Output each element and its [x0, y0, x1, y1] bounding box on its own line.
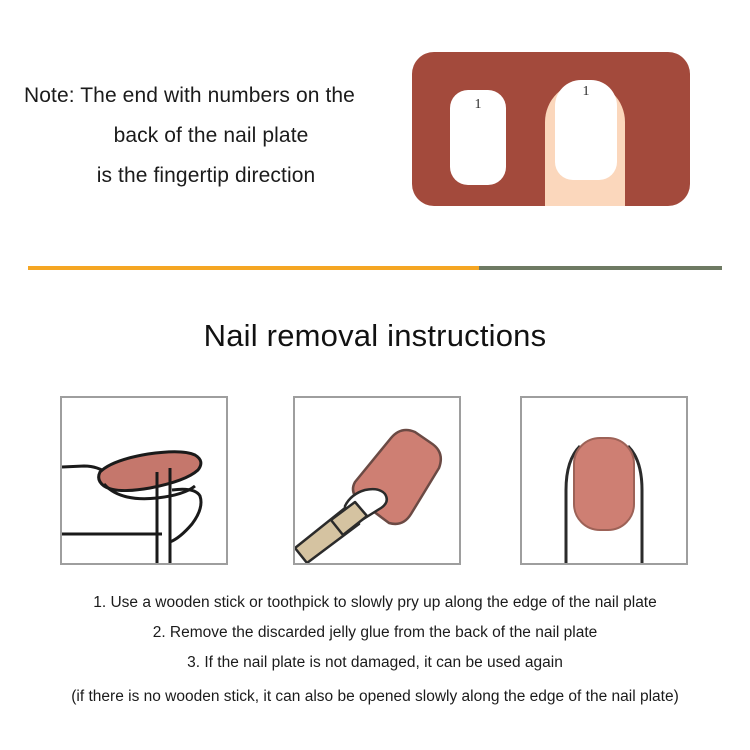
divider-segment-green — [479, 266, 722, 270]
page-title: Nail removal instructions — [0, 318, 750, 354]
note-section: Note: The end with numbers on the back o… — [0, 0, 750, 250]
note-line-1: Note: The end with numbers on the — [18, 76, 390, 116]
instruction-footnote: (if there is no wooden stick, it can als… — [0, 678, 750, 712]
nail-plate-on-finger-icon — [522, 398, 686, 563]
stick-under-nail-plate-icon — [295, 398, 459, 563]
instruction-list: 1. Use a wooden stick or toothpick to sl… — [0, 588, 750, 712]
section-divider — [28, 266, 722, 270]
instruction-step-3: 3. If the nail plate is not damaged, it … — [0, 648, 750, 678]
illustration-step-1 — [60, 396, 228, 565]
instruction-step-2: 2. Remove the discarded jelly glue from … — [0, 618, 750, 648]
nail-sticker-left: 1 — [450, 90, 506, 185]
note-text-block: Note: The end with numbers on the back o… — [18, 76, 390, 196]
nail-right-number: 1 — [555, 84, 617, 100]
nail-orientation-diagram: 1 1 — [412, 52, 690, 206]
nail-sticker-right: 1 — [555, 80, 617, 180]
divider-segment-orange — [28, 266, 479, 270]
note-line-2: back of the nail plate — [18, 116, 390, 156]
nail-left-number: 1 — [450, 97, 506, 113]
illustration-step-3 — [520, 396, 688, 565]
illustration-step-2 — [293, 396, 461, 565]
pry-up-nail-edge-icon — [62, 398, 226, 563]
instruction-step-1: 1. Use a wooden stick or toothpick to sl… — [0, 588, 750, 618]
note-line-3: is the fingertip direction — [18, 156, 390, 196]
